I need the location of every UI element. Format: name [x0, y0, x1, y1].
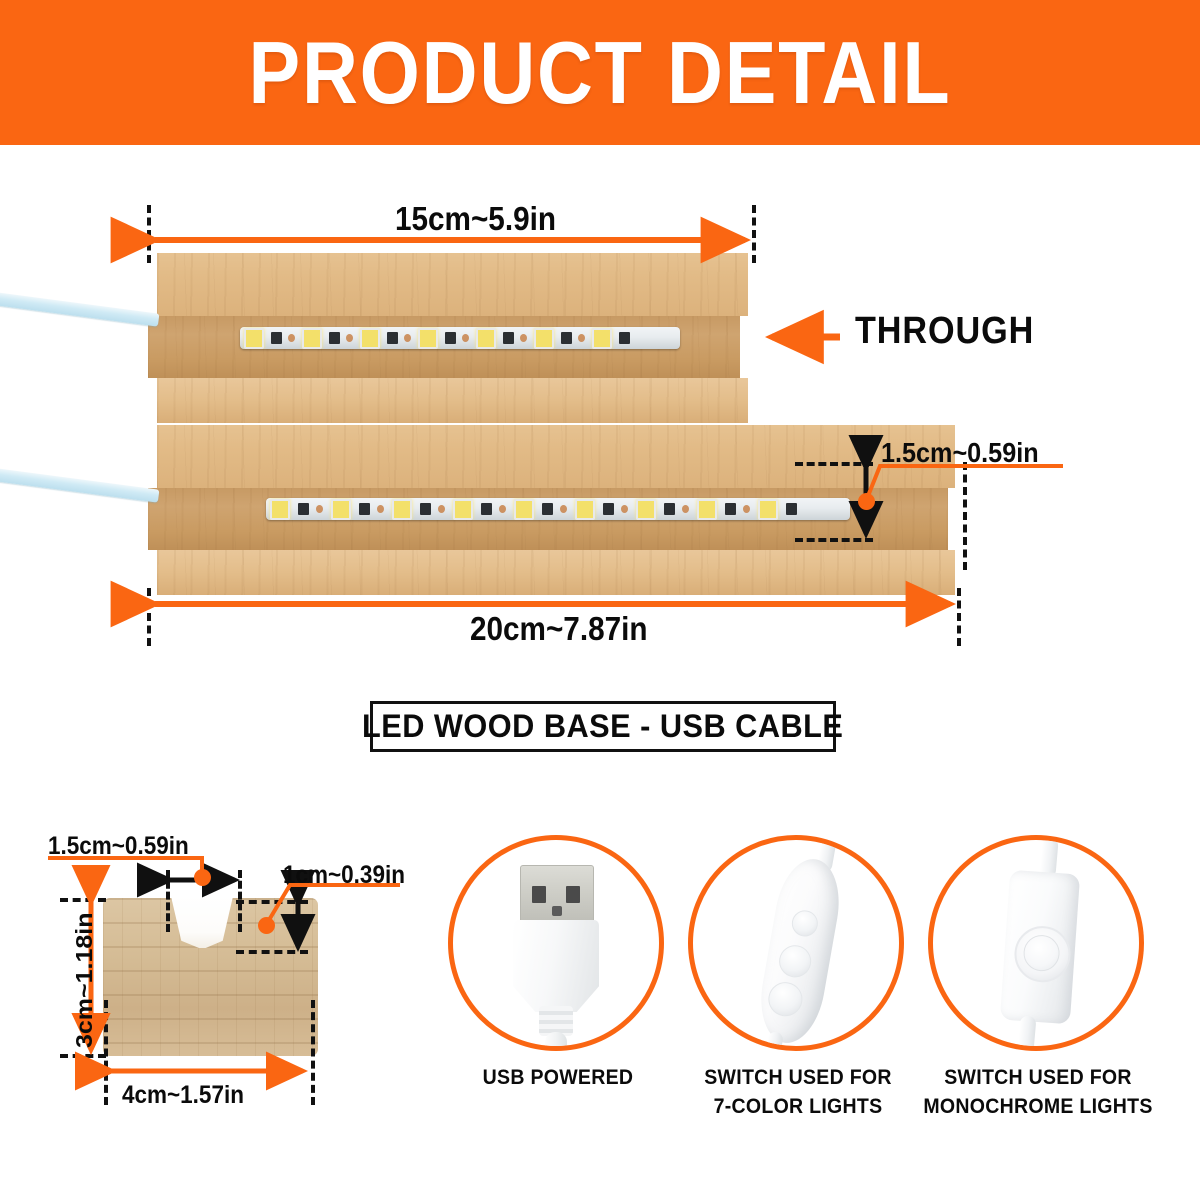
- usb-cable-bottom: [0, 468, 159, 503]
- xs-groove-width-dot: [194, 869, 211, 886]
- switch-button-top: [790, 908, 820, 938]
- led-resistor: [387, 332, 398, 344]
- led-resistor: [603, 503, 614, 515]
- led-pad: [743, 505, 750, 513]
- led-pad: [578, 334, 585, 342]
- caption-line-1: USB POWERED: [437, 1063, 679, 1092]
- xs-guide-height-bottom: [60, 1054, 106, 1058]
- led-resistor: [445, 332, 456, 344]
- led-chip: [392, 499, 412, 520]
- usb-center-slot: [552, 906, 562, 916]
- usb-metal-head: [520, 865, 594, 927]
- xs-groove-depth-dot: [258, 917, 275, 934]
- wood-grain-texture: [157, 425, 955, 488]
- dimension-label-15cm: 15cm~5.9in: [395, 200, 556, 238]
- dimension-label-groove-depth: 1.5cm~0.59in: [881, 437, 1039, 469]
- led-resistor: [619, 332, 630, 344]
- xs-label-groove-depth: 1cm~0.39in: [283, 861, 405, 890]
- led-chip: [360, 328, 380, 349]
- led-resistor: [420, 503, 431, 515]
- usb-cable-top: [0, 292, 159, 327]
- led-strip-top: [240, 327, 680, 349]
- switch-button-middle: [777, 943, 814, 980]
- header-banner: PRODUCT DETAIL: [0, 0, 1200, 145]
- usb-contact-slot: [566, 886, 580, 903]
- led-chip: [514, 499, 534, 520]
- led-chip: [636, 499, 656, 520]
- led-chip: [575, 499, 595, 520]
- xs-label-groove-width: 1.5cm~0.59in: [48, 832, 189, 861]
- section-title-box: LED WOOD BASE - USB CABLE: [370, 701, 836, 752]
- inline-switch-body: [1000, 870, 1080, 1025]
- led-resistor: [359, 503, 370, 515]
- led-chip: [270, 499, 290, 520]
- led-pad: [377, 505, 384, 513]
- led-resistor: [542, 503, 553, 515]
- guide-line-top-left: [147, 205, 151, 263]
- led-pad: [288, 334, 295, 342]
- led-chip: [476, 328, 496, 349]
- xs-guide-width-right: [311, 1000, 315, 1105]
- cross-section-wood-block: [103, 898, 318, 1056]
- usb-plastic-body: [513, 920, 599, 1012]
- feature-caption-seven-color: SWITCH USED FOR 7-COLOR LIGHTS: [677, 1063, 919, 1121]
- led-pad: [438, 505, 445, 513]
- product-detail-page: PRODUCT DETAIL: [0, 0, 1200, 1200]
- section-title-label: LED WOOD BASE - USB CABLE: [362, 708, 843, 745]
- usb-plug-icon: [448, 835, 664, 1051]
- through-callout-label: THROUGH: [855, 310, 1034, 353]
- xs-guide-depth-top: [236, 900, 308, 904]
- depth-marker-dot: [858, 493, 875, 510]
- bottom-base-upper-face: [157, 425, 955, 488]
- led-resistor: [561, 332, 572, 344]
- led-pad: [346, 334, 353, 342]
- led-pad: [404, 334, 411, 342]
- led-pad: [520, 334, 527, 342]
- page-title: PRODUCT DETAIL: [72, 0, 1128, 145]
- monochrome-switch-icon: [928, 835, 1144, 1051]
- caption-line-1: SWITCH USED FOR: [677, 1063, 919, 1092]
- guide-line-top-right: [752, 205, 756, 263]
- wood-grain-texture: [157, 253, 748, 316]
- led-resistor: [664, 503, 675, 515]
- led-chip: [418, 328, 438, 349]
- led-chip: [244, 328, 264, 349]
- guide-line-depth-bottom: [795, 538, 873, 542]
- guide-line-depth-top: [795, 462, 873, 466]
- dimension-label-20cm: 20cm~7.87in: [470, 610, 648, 648]
- led-chip: [534, 328, 554, 349]
- xs-guide-groove-left: [166, 870, 170, 932]
- led-pad: [499, 505, 506, 513]
- guide-line-base-right: [957, 588, 961, 646]
- led-strip-bottom: [266, 498, 850, 520]
- usb-cord: [545, 1032, 567, 1051]
- wood-grain-texture: [157, 550, 955, 595]
- led-chip: [758, 499, 778, 520]
- xs-guide-depth-bottom: [236, 950, 308, 954]
- led-resistor: [503, 332, 514, 344]
- switch-button-bottom: [766, 980, 805, 1019]
- led-resistor: [271, 332, 282, 344]
- caption-line-1: SWITCH USED FOR: [917, 1063, 1159, 1092]
- led-chip: [331, 499, 351, 520]
- top-base-lower-face: [157, 378, 748, 423]
- led-chip: [592, 328, 612, 349]
- switch-cord-lower: [765, 1031, 784, 1051]
- top-base-upper-face: [157, 253, 748, 316]
- guide-line-base-left: [147, 588, 151, 646]
- seven-color-switch-icon: [688, 835, 904, 1051]
- led-chip: [453, 499, 473, 520]
- usb-contact-slot: [532, 886, 546, 903]
- led-resistor: [329, 332, 340, 344]
- led-resistor: [481, 503, 492, 515]
- caption-line-2: 7-COLOR LIGHTS: [677, 1092, 919, 1121]
- led-chip: [302, 328, 322, 349]
- wood-grain-texture: [157, 378, 748, 423]
- led-resistor: [725, 503, 736, 515]
- bottom-base-lower-face: [157, 550, 955, 595]
- led-resistor: [786, 503, 797, 515]
- switch-cord-lower: [1017, 1015, 1036, 1051]
- xs-label-base-width: 4cm~1.57in: [122, 1081, 244, 1110]
- xs-label-height: 3cm~1.18in: [72, 912, 99, 1048]
- led-pad: [621, 505, 628, 513]
- led-pad: [316, 505, 323, 513]
- led-chip: [697, 499, 717, 520]
- led-resistor: [298, 503, 309, 515]
- caption-line-2: MONOCHROME LIGHTS: [917, 1092, 1159, 1121]
- led-pad: [462, 334, 469, 342]
- led-pad: [560, 505, 567, 513]
- remote-switch-body: [753, 854, 846, 1048]
- xs-guide-height-top: [60, 898, 106, 902]
- led-pad: [682, 505, 689, 513]
- guide-line-depth-right: [963, 462, 967, 570]
- feature-caption-monochrome: SWITCH USED FOR MONOCHROME LIGHTS: [917, 1063, 1159, 1121]
- feature-caption-usb: USB POWERED: [437, 1063, 679, 1092]
- xs-guide-width-left: [104, 1000, 108, 1105]
